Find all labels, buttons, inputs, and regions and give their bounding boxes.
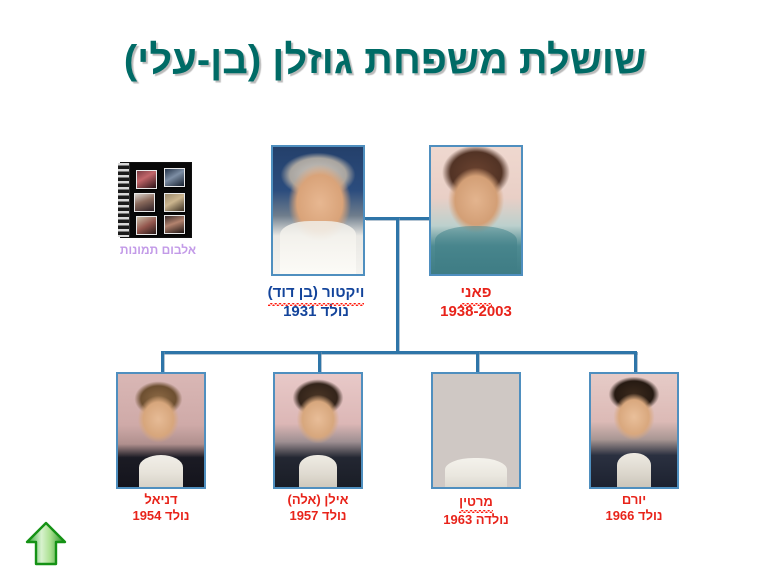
album-thumbnail (164, 168, 185, 187)
daniel-portrait-image (118, 374, 204, 487)
album-spiral-binding (118, 163, 130, 237)
page-title: שושלת משפחת גוזלן (בן-עלי) (0, 38, 770, 83)
child-connector-martine (476, 351, 479, 373)
photo-ilan[interactable] (273, 372, 363, 489)
father-name: ויקטור (בן דוד) (268, 284, 365, 303)
mother-name: פאני (460, 284, 491, 303)
siblings-connector-horizontal (161, 351, 637, 354)
ilan-portrait-image (275, 374, 361, 487)
yoram-dates: נולד 1966 (564, 508, 704, 524)
child-connector-yoram (634, 351, 637, 373)
photo-album-icon[interactable] (120, 162, 192, 238)
photo-father[interactable] (271, 145, 365, 276)
father-portrait-image (273, 147, 363, 274)
yoram-name: יורם (564, 492, 704, 508)
caption-ilan: אילן (אלה) נולד 1957 (248, 492, 388, 525)
martine-dates: נולדה 1963 (406, 512, 546, 528)
caption-mother: פאני 1938-2003 (396, 283, 556, 322)
photo-daniel[interactable] (116, 372, 206, 489)
ilan-name: אילן (אלה) (248, 492, 388, 508)
album-thumbnail (134, 193, 155, 212)
album-thumbnail (136, 216, 157, 235)
slide-canvas: שושלת משפחת גוזלן (בן-עלי) אלבום תמונות … (0, 0, 770, 577)
caption-martine: מרטין נולדה 1963 (406, 492, 546, 528)
photo-album-label[interactable]: אלבום תמונות (98, 243, 218, 257)
album-thumbnail (164, 193, 185, 212)
yoram-portrait-image (591, 374, 677, 487)
photo-yoram[interactable] (589, 372, 679, 489)
photo-mother[interactable] (429, 145, 523, 276)
father-dates: נולד 1931 (216, 303, 416, 322)
caption-daniel: דניאל נולד 1954 (91, 492, 231, 525)
bowtie-detail (149, 464, 173, 474)
mother-portrait-image (431, 147, 521, 274)
album-thumbnail (164, 215, 185, 234)
daniel-dates: נולד 1954 (91, 508, 231, 524)
martine-name: מרטין (459, 494, 493, 510)
caption-yoram: יורם נולד 1966 (564, 492, 704, 525)
album-thumbnail (136, 170, 157, 189)
green-up-arrow-icon[interactable] (24, 521, 68, 567)
martine-portrait-image (433, 374, 519, 487)
necktie-detail (315, 462, 324, 487)
mother-dates: 1938-2003 (396, 303, 556, 322)
photo-martine[interactable] (431, 372, 521, 489)
caption-father: ויקטור (בן דוד) נולד 1931 (216, 283, 416, 322)
ilan-dates: נולד 1957 (248, 508, 388, 524)
necktie-detail (630, 460, 639, 487)
child-connector-daniel (161, 351, 164, 373)
daniel-name: דניאל (91, 492, 231, 508)
up-arrow-glyph (24, 521, 68, 567)
child-connector-ilan (318, 351, 321, 373)
